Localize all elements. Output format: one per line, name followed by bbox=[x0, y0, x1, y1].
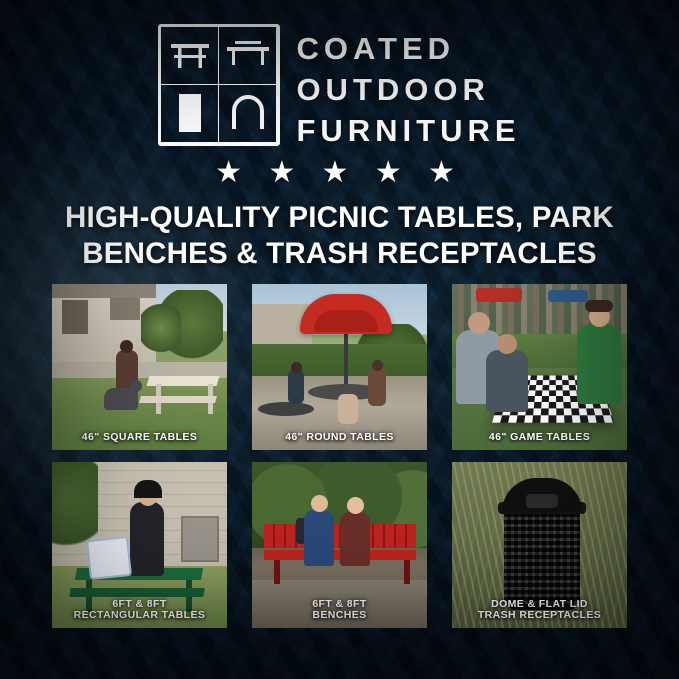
caption-line-2: TRASH RECEPTACLES bbox=[455, 610, 624, 622]
product-caption: 6FT & 8FT RECTANGULAR TABLES bbox=[52, 599, 227, 623]
product-caption: 46" SQUARE TABLES bbox=[52, 432, 227, 444]
caption-line-2: BENCHES bbox=[255, 610, 424, 622]
logo-line-1: COATED bbox=[296, 28, 520, 69]
product-tile-square-tables[interactable]: 46" SQUARE TABLES bbox=[52, 284, 227, 450]
product-caption: 46" ROUND TABLES bbox=[252, 432, 427, 444]
brand-logo: COATED OUTDOOR FURNITURE bbox=[0, 24, 679, 152]
product-tile-trash-receptacles[interactable]: DOME & FLAT LID TRASH RECEPTACLES bbox=[452, 462, 627, 628]
logo-line-2: OUTDOOR bbox=[296, 69, 520, 110]
product-tile-game-tables[interactable]: 46" GAME TABLES bbox=[452, 284, 627, 450]
product-grid: 46" SQUARE TABLES 46" ROUND TABLES bbox=[52, 284, 627, 628]
picnic-table-icon bbox=[160, 26, 220, 86]
park-bench-icon bbox=[218, 26, 278, 86]
product-banner-image: COATED OUTDOOR FURNITURE ★ ★ ★ ★ ★ HIGH-… bbox=[0, 0, 679, 679]
logo-mark-grid bbox=[158, 24, 280, 146]
trash-receptacle-icon bbox=[160, 84, 220, 144]
caption-line-1: 46" ROUND TABLES bbox=[255, 432, 424, 444]
headline: HIGH-QUALITY PICNIC TABLES, PARK BENCHES… bbox=[30, 200, 649, 273]
product-tile-round-tables[interactable]: 46" ROUND TABLES bbox=[252, 284, 427, 450]
caption-line-1: 46" SQUARE TABLES bbox=[55, 432, 224, 444]
product-caption: 46" GAME TABLES bbox=[452, 432, 627, 444]
headline-line-2: BENCHES & TRASH RECEPTACLES bbox=[30, 236, 649, 272]
arch-bench-icon bbox=[218, 84, 278, 144]
caption-line-1: 46" GAME TABLES bbox=[455, 432, 624, 444]
photo-square-table-patio bbox=[52, 284, 227, 450]
product-tile-benches[interactable]: 6FT & 8FT BENCHES bbox=[252, 462, 427, 628]
headline-line-1: HIGH-QUALITY PICNIC TABLES, PARK bbox=[30, 200, 649, 236]
caption-line-2: RECTANGULAR TABLES bbox=[55, 610, 224, 622]
product-caption: DOME & FLAT LID TRASH RECEPTACLES bbox=[452, 599, 627, 623]
logo-wordmark: COATED OUTDOOR FURNITURE bbox=[296, 24, 520, 152]
photo-game-table-checkers bbox=[452, 284, 627, 450]
product-caption: 6FT & 8FT BENCHES bbox=[252, 599, 427, 623]
photo-round-table-umbrella bbox=[252, 284, 427, 450]
star-rating: ★ ★ ★ ★ ★ bbox=[0, 158, 679, 188]
product-tile-rectangular-tables[interactable]: 6FT & 8FT RECTANGULAR TABLES bbox=[52, 462, 227, 628]
logo-line-3: FURNITURE bbox=[296, 110, 520, 151]
